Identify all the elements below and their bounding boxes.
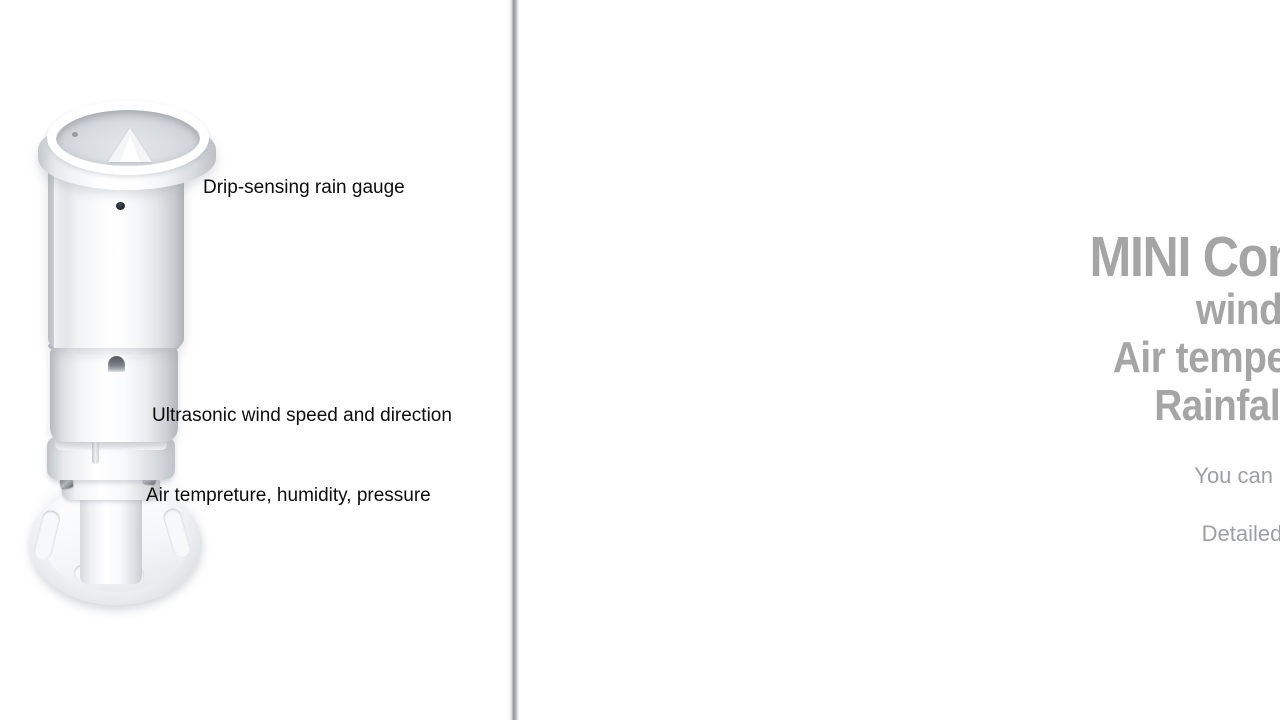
- callout-label-ultrasonic-wind: Ultrasonic wind speed and direction: [152, 405, 452, 428]
- transducer-port: [108, 356, 125, 372]
- headline-line-2: wind speed and direction: [1089, 286, 1280, 334]
- text-panel: HD MINI Compact Weather Station wind spe…: [522, 0, 1280, 720]
- body-copy-block: You can choosest different types of we s…: [1044, 461, 1280, 548]
- headline-line-1: MINI Compact Weather Station: [1089, 228, 1280, 286]
- product-slide: Drip-sensing rain gauge Ultrasonic wind …: [0, 0, 1280, 720]
- body-copy-line-3: Detailed please consult the customer ser…: [1044, 519, 1280, 548]
- product-image-panel: Drip-sensing rain gauge Ultrasonic wind …: [0, 0, 514, 720]
- panel-divider: [508, 0, 522, 720]
- drain-vent-hole: [116, 202, 125, 210]
- headline-line-3: Air temperature humidity pressure: [1089, 334, 1280, 382]
- headline-block: MINI Compact Weather Station wind speed …: [1044, 228, 1280, 430]
- body-copy-line-2: according to your needs.: [1044, 490, 1280, 519]
- funnel-drip-sensor: [72, 132, 78, 137]
- body-copy-line-1: You can choosest different types of we s…: [1044, 461, 1280, 490]
- callout-label-air-sensors: Air tempreture, humidity, pressure: [146, 485, 431, 508]
- headline-line-4: Rainfall/Illuminance/Radiation: [1089, 382, 1280, 430]
- callout-label-rain-gauge: Drip-sensing rain gauge: [203, 177, 405, 200]
- lower-stem: [80, 492, 142, 584]
- tipping-cone-highlight: [120, 136, 140, 162]
